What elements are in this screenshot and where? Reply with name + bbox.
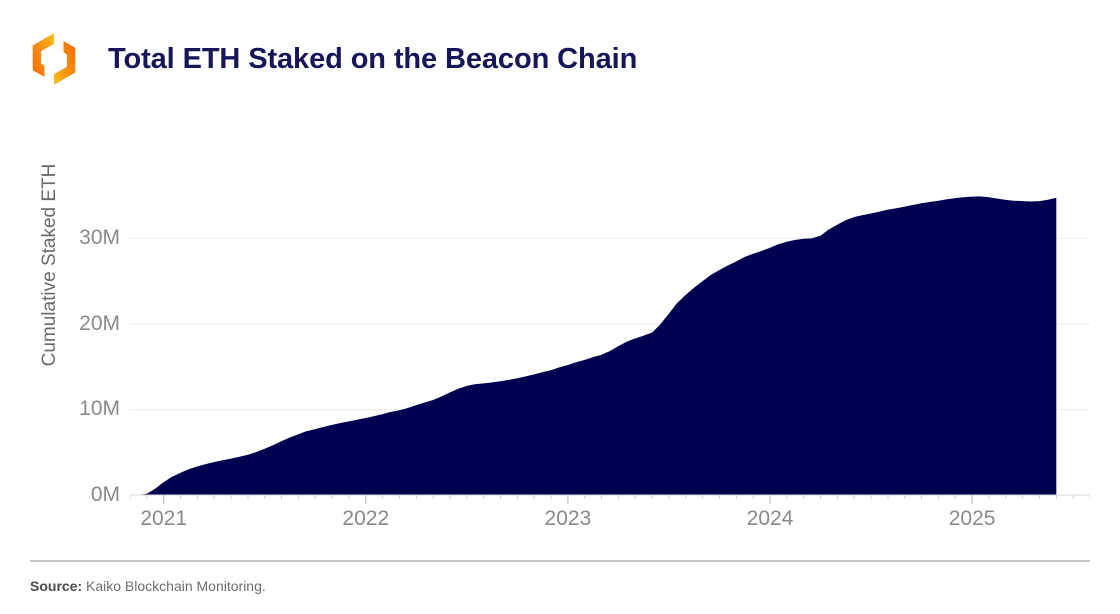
x-axis-tick-label: 2025 (949, 508, 996, 529)
y-axis-tick-label: 20M (52, 313, 120, 334)
y-axis-tick-label: 30M (52, 227, 120, 248)
y-axis-tick-label: 10M (52, 398, 120, 419)
area-chart-svg (130, 104, 1090, 544)
kaiko-hexagon-logo-icon (26, 31, 82, 87)
header: Total ETH Staked on the Beacon Chain (26, 26, 1086, 92)
x-axis-tick-label: 2024 (747, 508, 794, 529)
x-axis-tick-label: 2023 (545, 508, 592, 529)
plot-area (130, 104, 1090, 544)
x-axis-tick-label: 2022 (342, 508, 389, 529)
source-label: Source: (30, 578, 82, 594)
y-axis-tick-label: 0M (52, 484, 120, 505)
y-axis-tick-labels: 0M10M20M30M (52, 104, 120, 544)
chart-page: Total ETH Staked on the Beacon Chain Cum… (0, 0, 1120, 614)
x-axis-tick-labels: 20212022202320242025 (130, 508, 1090, 548)
x-axis-tick-label: 2021 (140, 508, 187, 529)
staked-eth-area-series (138, 196, 1056, 495)
source-note: Source: Kaiko Blockchain Monitoring. (30, 578, 266, 594)
chart-container: Cumulative Staked ETH 0M10M20M30M 202120… (0, 104, 1120, 544)
footer-divider (30, 560, 1090, 562)
x-axis-major-ticks (164, 495, 972, 504)
source-text: Kaiko Blockchain Monitoring. (82, 578, 266, 594)
x-axis-minor-ticks (130, 495, 1090, 499)
page-title: Total ETH Staked on the Beacon Chain (108, 45, 637, 74)
